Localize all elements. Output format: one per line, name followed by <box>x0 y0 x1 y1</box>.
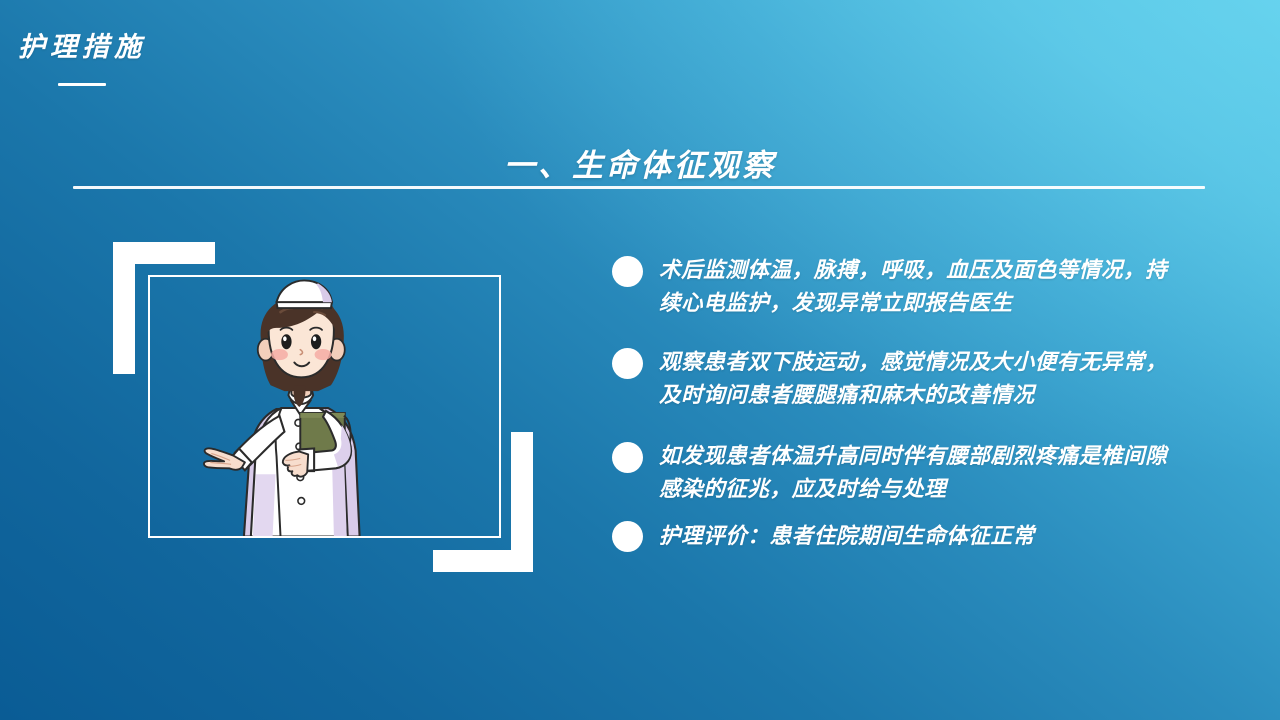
bullet-text: 护理评价：患者住院期间生命体征正常 <box>659 520 1169 553</box>
kicker-underline <box>58 83 106 86</box>
illustration-block <box>113 242 537 572</box>
illustration-frame <box>148 275 501 538</box>
list-item: 观察患者双下肢运动，感觉情况及大小便有无异常，及时询问患者腰腿痛和麻木的改善情况 <box>612 346 1169 413</box>
list-item: 术后监测体温，脉搏，呼吸，血压及面色等情况，持续心电监护，发现异常立即报告医生 <box>612 254 1169 321</box>
bullet-dot-icon <box>612 521 643 552</box>
page-title: 护理措施 <box>18 32 146 63</box>
bullet-dot-icon <box>612 348 643 379</box>
slide-canvas: 护理措施 一、生命体征观察 <box>0 0 1280 720</box>
section-divider <box>73 186 1205 189</box>
list-item: 如发现患者体温升高同时伴有腰部剧烈疼痛是椎间隙感染的征兆，应及时给与处理 <box>612 440 1169 507</box>
bullet-dot-icon <box>612 442 643 473</box>
bullet-text: 观察患者双下肢运动，感觉情况及大小便有无异常，及时询问患者腰腿痛和麻木的改善情况 <box>659 346 1169 413</box>
bullet-text: 术后监测体温，脉搏，呼吸，血压及面色等情况，持续心电监护，发现异常立即报告医生 <box>659 254 1169 321</box>
nurse-illustration-icon <box>150 277 499 536</box>
bullet-text: 如发现患者体温升高同时伴有腰部剧烈疼痛是椎间隙感染的征兆，应及时给与处理 <box>659 440 1169 507</box>
section-title: 一、生命体征观察 <box>0 140 1280 185</box>
list-item: 护理评价：患者住院期间生命体征正常 <box>612 520 1169 553</box>
bullet-dot-icon <box>612 256 643 287</box>
